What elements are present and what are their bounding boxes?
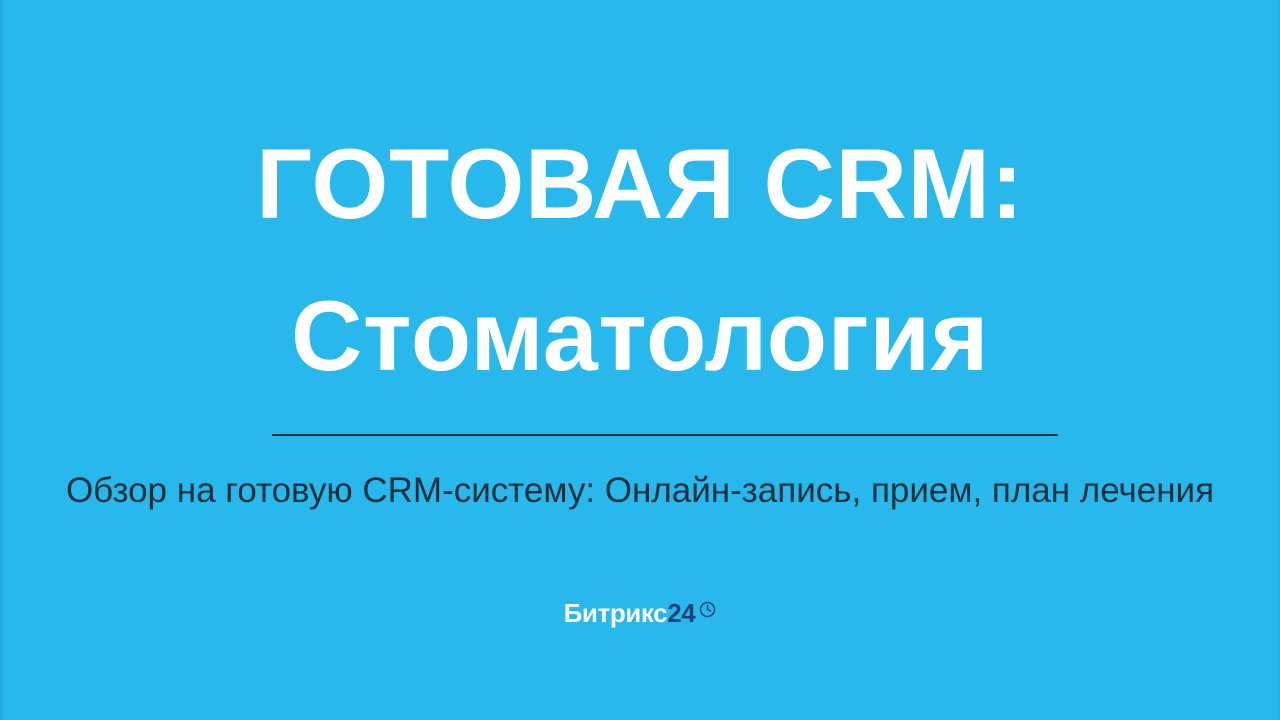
- logo-number: 24: [667, 598, 695, 628]
- slide-title: ГОТОВАЯ CRM: Стоматология: [0, 132, 1280, 388]
- title-divider: [272, 434, 1058, 436]
- logo-wordmark: Битрикс: [564, 598, 668, 628]
- slide-subtitle: Обзор на готовую CRM-систему: Онлайн-зап…: [0, 470, 1280, 512]
- clock-icon: [699, 601, 716, 618]
- title-line-1: ГОТОВАЯ CRM:: [0, 132, 1280, 236]
- title-line-2: Стоматология: [0, 284, 1280, 388]
- title-slide: ГОТОВАЯ CRM: Стоматология Обзор на готов…: [0, 0, 1280, 720]
- bitrix24-logo: Битрикс 24: [0, 598, 1280, 628]
- slide-content: ГОТОВАЯ CRM: Стоматология Обзор на готов…: [0, 0, 1280, 720]
